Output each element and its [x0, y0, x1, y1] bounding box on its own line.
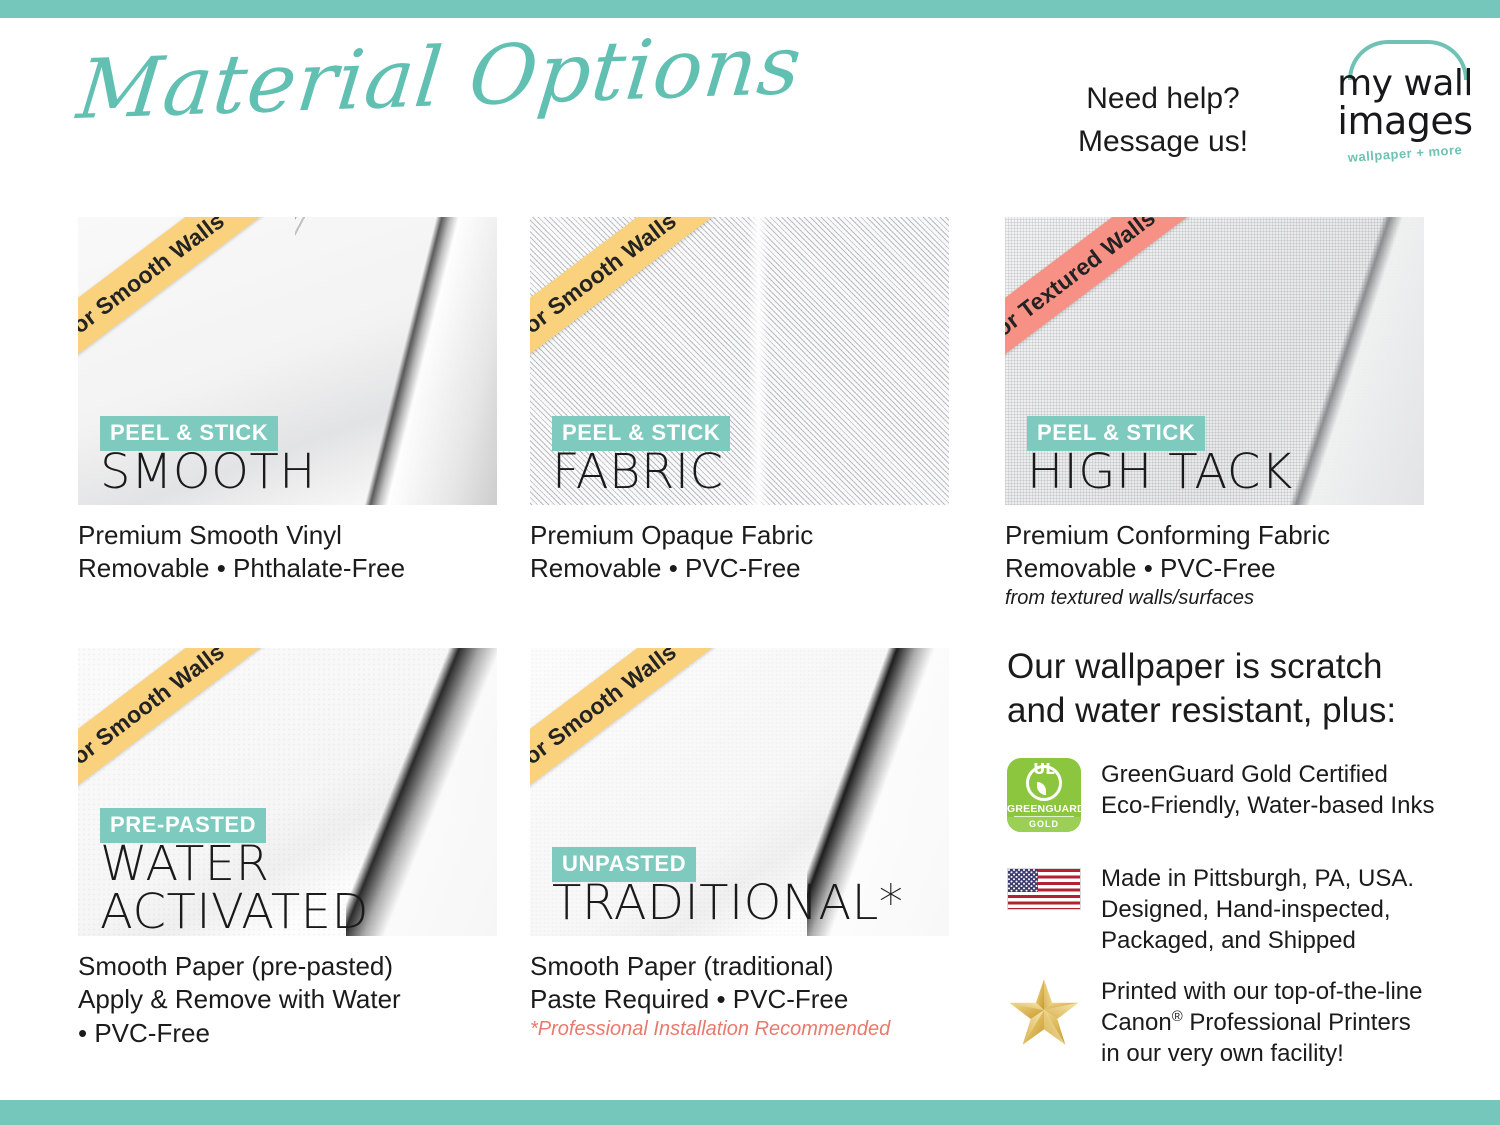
logo-line2: images: [1330, 102, 1480, 140]
top-accent-bar: [0, 0, 1500, 18]
feature-line-2: Eco-Friendly, Water-based Inks: [1101, 791, 1434, 822]
feature-text: GreenGuard Gold Certified Eco-Friendly, …: [1101, 758, 1434, 832]
us-flag-icon: [1007, 868, 1081, 910]
ribbon-for-textured-walls: for Textured Walls: [1005, 217, 1201, 381]
ribbon-for-smooth-walls: for Smooth Walls: [530, 648, 726, 812]
desc-line-1: Smooth Paper (traditional): [530, 950, 890, 983]
material-description: Premium Smooth Vinyl Removable • Phthala…: [78, 519, 405, 586]
material-photo-high-tack: for Textured Walls PEEL & STICK HIGH TAC…: [1005, 217, 1424, 505]
feature-line-1: Made in Pittsburgh, PA, USA.: [1101, 864, 1414, 895]
material-description: Premium Conforming Fabric Removable • PV…: [1005, 519, 1330, 611]
material-card-traditional[interactable]: for Smooth Walls UNPASTED TRADITIONAL* S…: [530, 648, 949, 936]
logo-line1: my wall: [1330, 66, 1480, 102]
promo-headline-line2: and water resistant, plus:: [1007, 689, 1457, 733]
desc-note: *Professional Installation Recommended: [530, 1017, 890, 1042]
feature-line-1: GreenGuard Gold Certified: [1101, 760, 1434, 791]
need-help-line1: Need help?: [1048, 78, 1278, 121]
desc-line-2: Apply & Remove with Water: [78, 983, 401, 1016]
material-description: Smooth Paper (traditional) Paste Require…: [530, 950, 890, 1042]
material-description: Premium Opaque Fabric Removable • PVC-Fr…: [530, 519, 813, 586]
desc-line-2: Paste Required • PVC-Free: [530, 983, 890, 1016]
canon-brand: Canon: [1101, 1009, 1172, 1036]
desc-line-3: • PVC-Free: [78, 1017, 401, 1050]
page-title: Material Options: [73, 23, 805, 134]
greenguard-gold-label: GOLD: [1007, 817, 1081, 832]
bottom-accent-bar: [0, 1100, 1500, 1125]
brand-logo: my wall images wallpaper + more: [1330, 38, 1480, 178]
greenguard-wordmark: GREENGUARD: [1007, 803, 1081, 815]
ribbon-for-smooth-walls: for Smooth Walls: [78, 648, 274, 812]
material-name: TRADITIONAL*: [552, 879, 903, 928]
material-card-water-activated[interactable]: for Smooth Walls PRE-PASTED WATER ACTIVA…: [78, 648, 497, 936]
desc-line-2: Removable • PVC-Free: [530, 552, 813, 585]
desc-line-1: Premium Opaque Fabric: [530, 519, 813, 552]
ul-mark-text: UL: [1026, 760, 1062, 778]
material-card-fabric[interactable]: for Smooth Walls PEEL & STICK FABRIC Pre…: [530, 217, 949, 505]
material-photo-traditional: for Smooth Walls UNPASTED TRADITIONAL*: [530, 648, 949, 936]
desc-line-1: Premium Smooth Vinyl: [78, 519, 405, 552]
flag-stars: [1008, 869, 1038, 892]
gold-star-icon: [1007, 977, 1081, 1047]
desc-note: from textured walls/surfaces: [1005, 586, 1330, 611]
material-options-infographic: Material Options Need help? Message us! …: [0, 0, 1500, 1125]
feature-line-1: Printed with our top-of-the-line: [1101, 977, 1423, 1008]
material-photo-water-activated: for Smooth Walls PRE-PASTED WATER ACTIVA…: [78, 648, 497, 936]
material-name-line1: WATER: [100, 840, 269, 888]
material-description: Smooth Paper (pre-pasted) Apply & Remove…: [78, 950, 401, 1050]
feature-line-2: Designed, Hand-inspected,: [1101, 895, 1414, 926]
feature-made-in-usa: Made in Pittsburgh, PA, USA. Designed, H…: [1007, 862, 1477, 957]
greenguard-gold-icon: UL GREENGUARD GOLD: [1007, 758, 1081, 832]
material-photo-smooth: for Smooth Walls PEEL & STICK SMOOTH: [78, 217, 497, 505]
promo-headline: Our wallpaper is scratch and water resis…: [1007, 645, 1457, 733]
feature-text: Printed with our top-of-the-line Canon® …: [1101, 975, 1423, 1070]
material-card-high-tack[interactable]: for Textured Walls PEEL & STICK HIGH TAC…: [1005, 217, 1424, 505]
material-name: SMOOTH: [100, 448, 316, 497]
material-card-smooth[interactable]: for Smooth Walls PEEL & STICK SMOOTH Pre…: [78, 217, 497, 505]
ribbon-for-smooth-walls: for Smooth Walls: [78, 217, 274, 381]
feature-text: Made in Pittsburgh, PA, USA. Designed, H…: [1101, 862, 1414, 957]
material-photo-fabric: for Smooth Walls PEEL & STICK FABRIC: [530, 217, 949, 505]
material-name-line2: ACTIVATED: [100, 888, 369, 936]
feature-greenguard: UL GREENGUARD GOLD GreenGuard Gold Certi…: [1007, 758, 1477, 832]
desc-line-2: Removable • PVC-Free: [1005, 552, 1330, 585]
material-name: HIGH TACK: [1027, 448, 1293, 497]
ribbon-for-smooth-walls: for Smooth Walls: [530, 217, 726, 381]
registered-mark-icon: ®: [1172, 1009, 1183, 1025]
feature-canon-printers: Printed with our top-of-the-line Canon® …: [1007, 975, 1477, 1070]
feature-line-3: Packaged, and Shipped: [1101, 926, 1414, 957]
feature-line-2-rest: Professional Printers: [1183, 1009, 1411, 1036]
need-help-text: Need help? Message us!: [1048, 78, 1278, 163]
desc-line-1: Premium Conforming Fabric: [1005, 519, 1330, 552]
promo-headline-line1: Our wallpaper is scratch: [1007, 645, 1457, 689]
feature-line-2: Canon® Professional Printers: [1101, 1008, 1423, 1039]
desc-line-1: Smooth Paper (pre-pasted): [78, 950, 401, 983]
desc-line-2: Removable • Phthalate-Free: [78, 552, 405, 585]
material-name: FABRIC: [552, 448, 724, 497]
need-help-line2: Message us!: [1048, 121, 1278, 164]
feature-line-3: in our very own facility!: [1101, 1039, 1423, 1070]
logo-tagline: wallpaper + more: [1330, 141, 1481, 166]
